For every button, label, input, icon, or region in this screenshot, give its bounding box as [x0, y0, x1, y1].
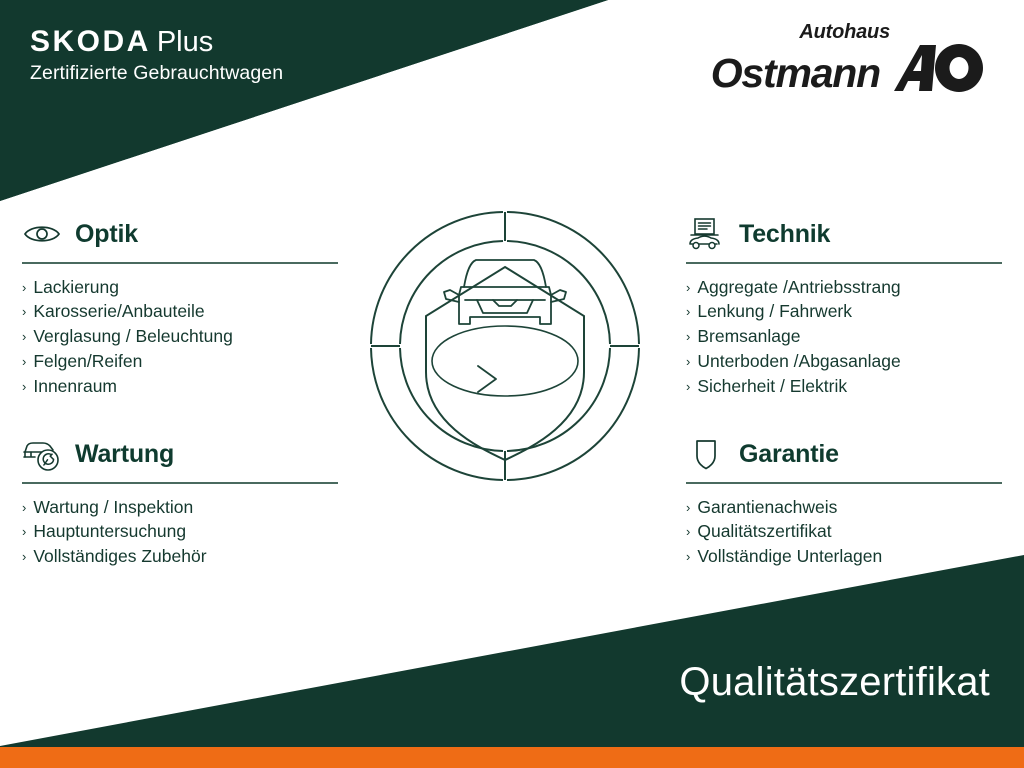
block-header-technik: Technik — [686, 212, 1002, 256]
page-title: Qualitätszertifikat — [679, 660, 990, 705]
skoda-plus-label: Plus — [157, 26, 213, 58]
orbit-arrow-icon — [478, 366, 496, 392]
autohaus-label: Autohaus — [711, 22, 890, 42]
item-label: Vollständiges Zubehör — [33, 544, 206, 569]
section-optik: Optik ›Lackierung ›Karosserie/Anbauteile… — [22, 212, 338, 399]
chevron-right-icon: › — [686, 355, 690, 368]
block-title-wartung: Wartung — [75, 440, 174, 469]
section-wartung: Wartung ›Wartung / Inspektion ›Hauptunte… — [22, 432, 338, 569]
ring-connectors — [371, 212, 639, 480]
block-wartung: Wartung ›Wartung / Inspektion ›Hauptunte… — [22, 432, 338, 569]
item-label: Unterboden /Abgasanlage — [697, 349, 900, 374]
list-item: ›Verglasung / Beleuchtung — [22, 324, 338, 349]
chevron-right-icon: › — [686, 281, 690, 294]
list-item: ›Hauptuntersuchung — [22, 519, 338, 544]
item-label: Aggregate /Antriebsstrang — [697, 275, 900, 300]
chevron-right-icon: › — [686, 305, 690, 318]
list-item: ›Bremsanlage — [686, 324, 1002, 349]
list-item: ›Wartung / Inspektion — [22, 495, 338, 520]
skoda-logo-line: SKODAPlus — [30, 26, 283, 58]
section-technik: Technik ›Aggregate /Antriebsstrang ›Lenk… — [686, 212, 1002, 399]
block-optik: Optik ›Lackierung ›Karosserie/Anbauteile… — [22, 212, 338, 399]
chevron-right-icon: › — [22, 501, 26, 514]
item-label: Lackierung — [33, 275, 119, 300]
inner-ring — [400, 241, 610, 451]
block-title-technik: Technik — [739, 220, 830, 249]
front-car-icon — [444, 260, 566, 324]
item-list-garantie: ›Garantienachweis ›Qualitätszertifikat ›… — [686, 495, 1002, 570]
list-item: ›Garantienachweis — [686, 495, 1002, 520]
shield-outline — [426, 267, 584, 460]
item-label: Hauptuntersuchung — [33, 519, 186, 544]
certificate-page: SKODAPlus Zertifizierte Gebrauchtwagen A… — [0, 0, 1024, 768]
chevron-right-icon: › — [686, 380, 690, 393]
orbit-ellipse — [432, 326, 578, 396]
chevron-right-icon: › — [22, 550, 26, 563]
car-wrench-icon — [22, 437, 62, 471]
page-header: SKODAPlus Zertifizierte Gebrauchtwagen A… — [0, 0, 1024, 205]
chevron-right-icon: › — [686, 550, 690, 563]
list-item: ›Aggregate /Antriebsstrang — [686, 275, 1002, 300]
item-label: Verglasung / Beleuchtung — [33, 324, 232, 349]
dealer-name-row: Ostmann — [711, 43, 986, 93]
chevron-right-icon: › — [686, 330, 690, 343]
block-header-garantie: Garantie — [686, 432, 1002, 476]
block-technik: Technik ›Aggregate /Antriebsstrang ›Lenk… — [686, 212, 1002, 399]
item-label: Lenkung / Fahrwerk — [697, 299, 852, 324]
dealer-name: Ostmann — [711, 54, 880, 93]
divider-garantie — [686, 482, 1002, 484]
divider-technik — [686, 262, 1002, 264]
list-item: ›Felgen/Reifen — [22, 349, 338, 374]
block-title-optik: Optik — [75, 220, 138, 249]
block-header-optik: Optik — [22, 212, 338, 256]
ao-monogram-icon — [890, 43, 986, 93]
item-label: Vollständige Unterlagen — [697, 544, 882, 569]
list-item: ›Karosserie/Anbauteile — [22, 299, 338, 324]
item-label: Qualitätszertifikat — [697, 519, 831, 544]
outer-ring — [371, 212, 639, 480]
list-item: ›Qualitätszertifikat — [686, 519, 1002, 544]
chevron-right-icon: › — [686, 525, 690, 538]
block-header-wartung: Wartung — [22, 432, 338, 476]
chevron-right-icon: › — [22, 355, 26, 368]
list-item: ›Vollständige Unterlagen — [686, 544, 1002, 569]
chevron-right-icon: › — [22, 305, 26, 318]
section-garantie: Garantie ›Garantienachweis ›Qualitätszer… — [686, 432, 1002, 569]
list-item: ›Lenkung / Fahrwerk — [686, 299, 1002, 324]
list-item: ›Sicherheit / Elektrik — [686, 374, 1002, 399]
footer-green-wedge — [0, 555, 1024, 747]
car-document-icon — [686, 217, 726, 251]
item-list-wartung: ›Wartung / Inspektion ›Hauptuntersuchung… — [22, 495, 338, 570]
chevron-right-icon: › — [22, 380, 26, 393]
chevron-right-icon: › — [22, 525, 26, 538]
item-list-technik: ›Aggregate /Antriebsstrang ›Lenkung / Fa… — [686, 275, 1002, 399]
list-item: ›Innenraum — [22, 374, 338, 399]
item-label: Innenraum — [33, 374, 117, 399]
orange-bottom-bar — [0, 747, 1024, 768]
item-label: Sicherheit / Elektrik — [697, 374, 847, 399]
skoda-wordmark: SKODA — [30, 25, 151, 58]
chevron-right-icon: › — [22, 281, 26, 294]
item-label: Felgen/Reifen — [33, 349, 142, 374]
item-label: Garantienachweis — [697, 495, 837, 520]
item-label: Karosserie/Anbauteile — [33, 299, 204, 324]
block-garantie: Garantie ›Garantienachweis ›Qualitätszer… — [686, 432, 1002, 569]
list-item: ›Vollständiges Zubehör — [22, 544, 338, 569]
eye-icon — [22, 217, 62, 251]
skoda-plus-logo: SKODAPlus Zertifizierte Gebrauchtwagen — [30, 26, 283, 85]
item-label: Wartung / Inspektion — [33, 495, 193, 520]
item-label: Bremsanlage — [697, 324, 800, 349]
chevron-right-icon: › — [686, 501, 690, 514]
autohaus-ostmann-logo: Autohaus Ostmann — [711, 22, 986, 93]
certified-vehicle-emblem — [355, 196, 655, 496]
skoda-subtitle: Zertifizierte Gebrauchtwagen — [30, 62, 283, 85]
item-list-optik: ›Lackierung ›Karosserie/Anbauteile ›Verg… — [22, 275, 338, 399]
block-title-garantie: Garantie — [739, 440, 839, 469]
shield-icon — [686, 437, 726, 471]
divider-wartung — [22, 482, 338, 484]
list-item: ›Lackierung — [22, 275, 338, 300]
list-item: ›Unterboden /Abgasanlage — [686, 349, 1002, 374]
divider-optik — [22, 262, 338, 264]
chevron-right-icon: › — [22, 330, 26, 343]
